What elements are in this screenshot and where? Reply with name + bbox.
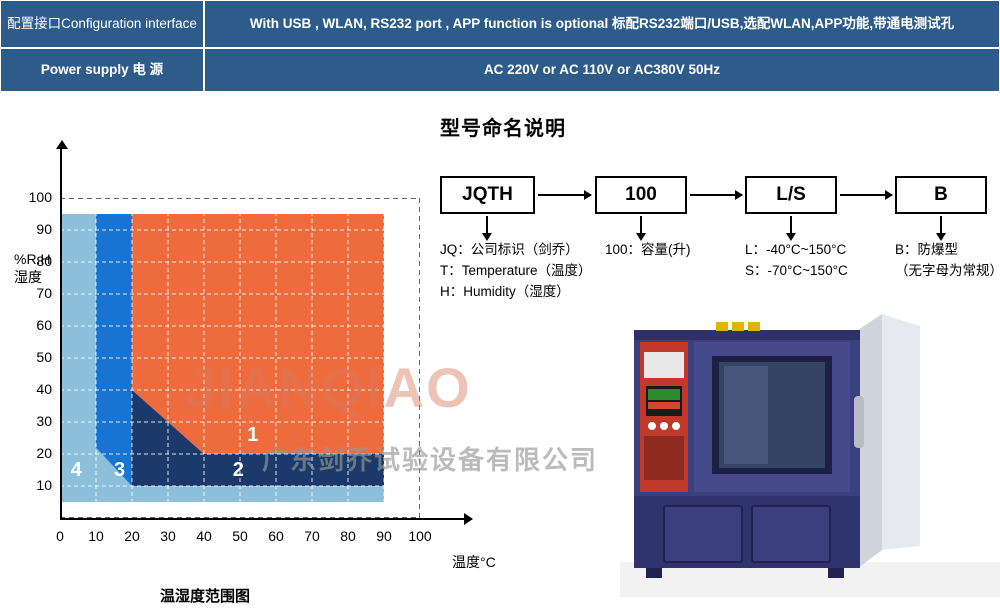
spec-value-config-interface: With USB , WLAN, RS232 port , APP functi… — [204, 0, 1000, 48]
table-row: 配置接口Configuration interface With USB , W… — [0, 0, 1000, 48]
chart-x-tick: 40 — [191, 528, 217, 544]
spec-table: 配置接口Configuration interface With USB , W… — [0, 0, 1000, 92]
model-box-capacity: 100 — [595, 176, 687, 214]
product-photo — [620, 300, 1000, 597]
legend-temp-range: L：-40°C~150°C S：-70°C~150°C — [745, 240, 895, 282]
legend-option-line-2: （无字母为常规） — [895, 261, 1000, 282]
down-arrow-icon — [486, 216, 488, 234]
chart-x-axis — [60, 518, 466, 520]
table-row: Power supply 电 源 AC 220V or AC 110V or A… — [0, 48, 1000, 92]
legend-option-line-1: B：防爆型 — [895, 240, 1000, 261]
chart-zone-label-4: 4 — [71, 459, 82, 482]
chart-x-tick: 0 — [47, 528, 73, 544]
temp-humidity-chart: %R.H湿度 102030405060708090100010203040506… — [0, 108, 470, 608]
chart-zone-1 — [132, 214, 384, 454]
chart-y-tick: 90 — [18, 221, 52, 237]
legend-brand-line-2: T：Temperature（温度） — [440, 261, 605, 282]
chart-y-tick: 50 — [18, 349, 52, 365]
model-naming-section: 型号命名说明 — [440, 112, 1000, 141]
chart-x-tick: 90 — [371, 528, 397, 544]
chart-x-tick: 20 — [119, 528, 145, 544]
chart-zone-2 — [132, 454, 384, 486]
spec-label-config-interface: 配置接口Configuration interface — [0, 0, 204, 48]
model-box-option: B — [895, 176, 987, 214]
arrow-icon — [840, 194, 892, 196]
chart-y-tick: 40 — [18, 381, 52, 397]
spec-label-power-supply: Power supply 电 源 — [0, 48, 204, 92]
chart-x-tick: 60 — [263, 528, 289, 544]
chart-y-tick: 30 — [18, 413, 52, 429]
chart-y-tick: 100 — [18, 189, 52, 205]
model-box-temp-range: L/S — [745, 176, 837, 214]
chart-x-tick: 10 — [83, 528, 109, 544]
chart-y-tick: 80 — [18, 253, 52, 269]
y-axis-title-line-2: 湿度 — [14, 268, 51, 286]
chart-zone-3 — [96, 214, 132, 486]
chart-zone-label-1: 1 — [247, 424, 258, 447]
legend-brand-line-3: H：Humidity（湿度） — [440, 282, 605, 303]
spec-value-power-supply: AC 220V or AC 110V or AC380V 50Hz — [204, 48, 1000, 92]
y-axis-arrow-icon — [56, 140, 68, 149]
down-arrow-icon — [940, 216, 942, 234]
down-arrow-icon — [790, 216, 792, 234]
chart-caption: 温湿度范围图 — [160, 585, 250, 606]
chart-y-tick: 20 — [18, 445, 52, 461]
model-naming-title: 型号命名说明 — [440, 112, 1000, 141]
chamber-illustration — [620, 300, 1000, 597]
x-axis-arrow-icon — [464, 513, 473, 525]
legend-temp-line-1: L：-40°C~150°C — [745, 240, 895, 261]
legend-capacity: 100：容量(升) — [605, 240, 745, 261]
model-box-brand: JQTH — [440, 176, 535, 214]
chart-x-tick: 50 — [227, 528, 253, 544]
chart-y-tick: 70 — [18, 285, 52, 301]
chart-x-tick: 80 — [335, 528, 361, 544]
chart-y-axis — [60, 148, 62, 520]
arrow-icon — [690, 194, 742, 196]
chart-y-tick: 60 — [18, 317, 52, 333]
down-arrow-icon — [640, 216, 642, 234]
legend-capacity-line-1: 100：容量(升) — [605, 240, 745, 261]
chart-x-tick: 70 — [299, 528, 325, 544]
chart-zone-label-2: 2 — [233, 459, 244, 482]
chart-x-tick: 30 — [155, 528, 181, 544]
chart-x-tick: 100 — [407, 528, 433, 544]
arrow-icon — [538, 194, 591, 196]
legend-option: B：防爆型 （无字母为常规） — [895, 240, 1000, 282]
chart-zone-label-3: 3 — [114, 459, 125, 482]
chart-x-axis-title: 温度°C — [452, 552, 496, 572]
legend-brand-line-1: JQ：公司标识（剑乔） — [440, 240, 605, 261]
model-naming-boxes: JQTH 100 L/S B — [440, 176, 1000, 216]
legend-temp-line-2: S：-70°C~150°C — [745, 261, 895, 282]
chart-y-tick: 10 — [18, 477, 52, 493]
legend-brand: JQ：公司标识（剑乔） T：Temperature（温度） H：Humidity… — [440, 240, 605, 303]
